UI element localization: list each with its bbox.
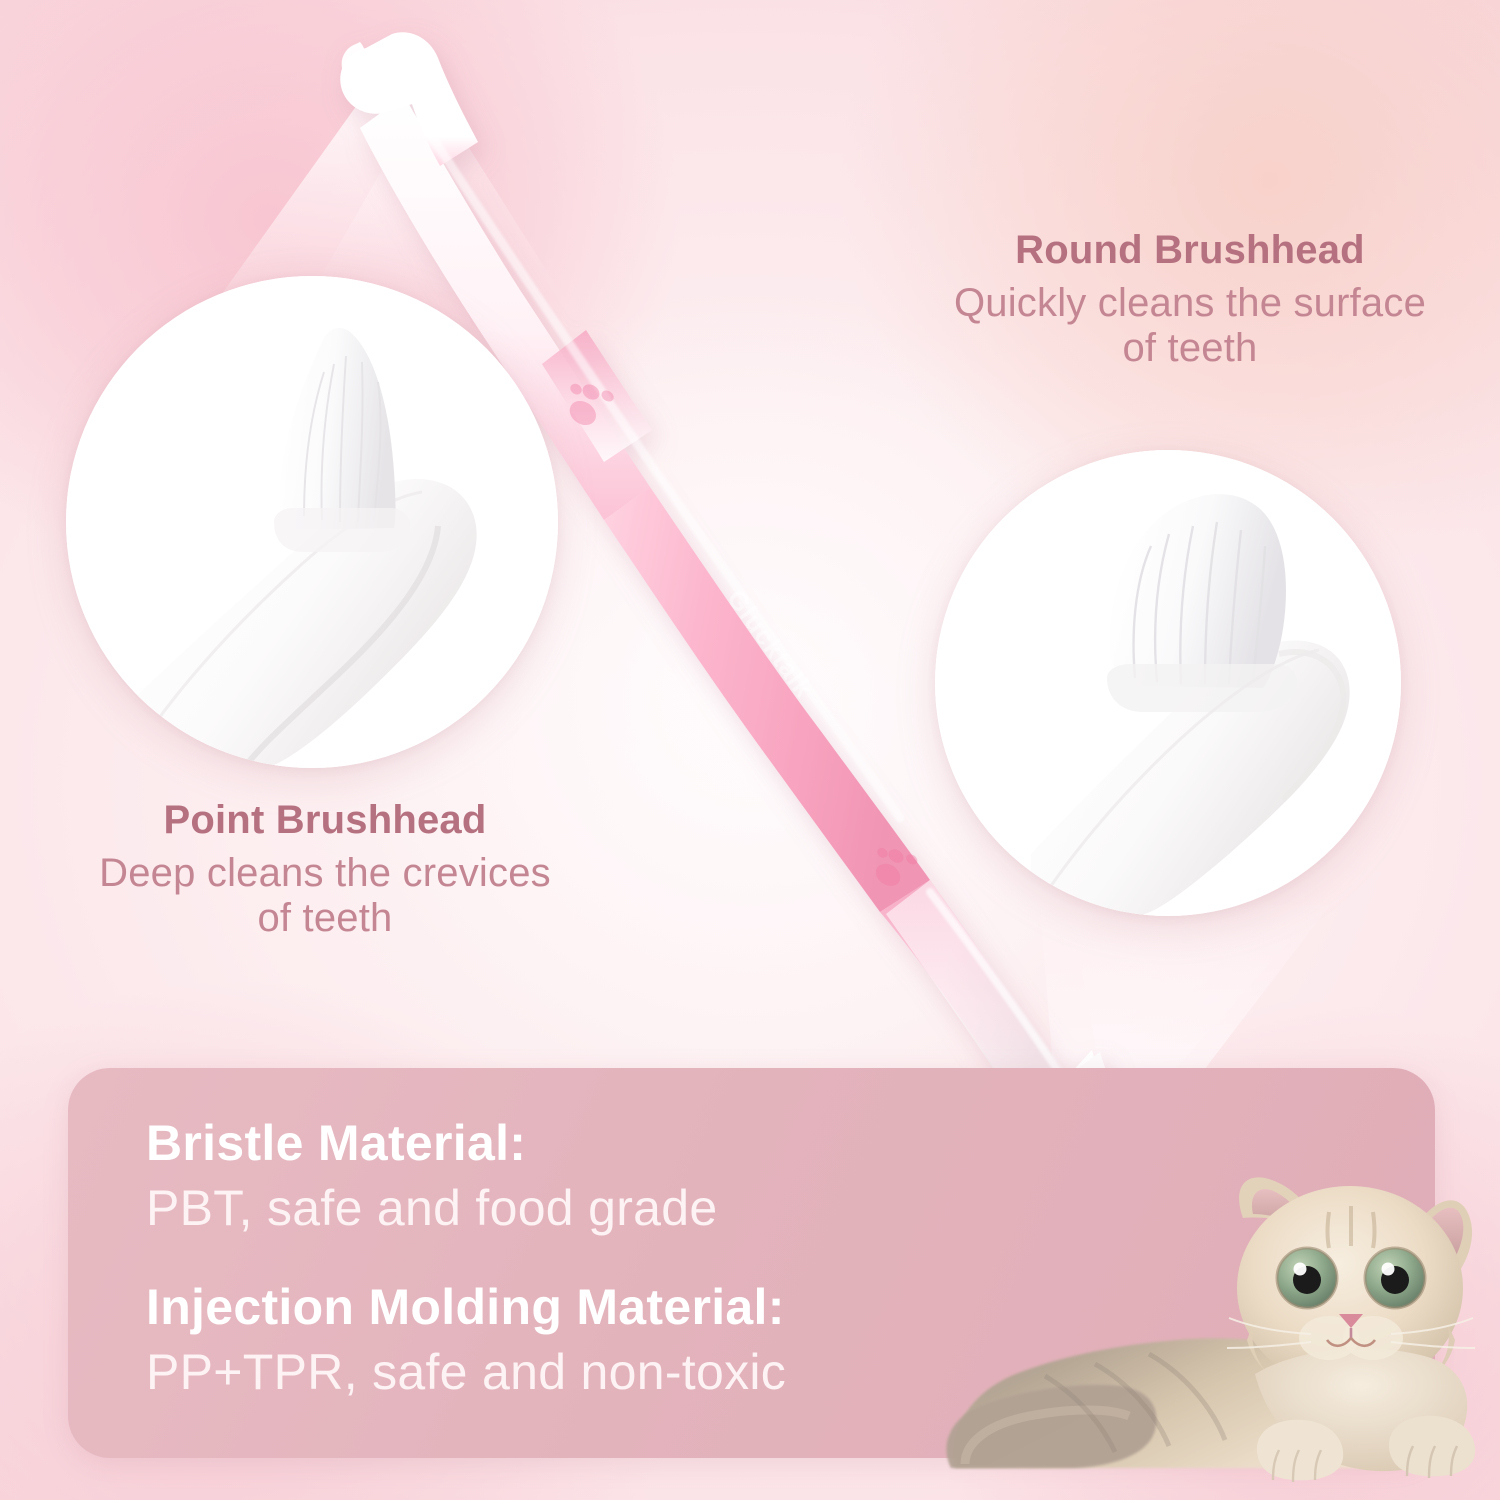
spec-bristle-material-label: Bristle Material: (146, 1116, 717, 1170)
round-brushhead-zoom (935, 450, 1401, 916)
point-brushhead-zoom (66, 276, 558, 768)
product-infographic: Glucktalk (0, 0, 1500, 1500)
callout-point-subtitle-line-2: of teeth (20, 896, 630, 941)
callout-round-brushhead: Round Brushhead Quickly cleans the surfa… (885, 228, 1495, 370)
callout-round-subtitle-line-2: of teeth (885, 326, 1495, 371)
spec-bristle-material: Bristle Material: PBT, safe and food gra… (146, 1116, 717, 1236)
callout-point-title: Point Brushhead (20, 798, 630, 843)
spec-bristle-material-value: PBT, safe and food grade (146, 1180, 717, 1236)
round-brushhead-zoom-art (935, 450, 1401, 916)
spec-injection-molding-material-value: PP+TPR, safe and non-toxic (146, 1344, 786, 1400)
spec-injection-molding-material: Injection Molding Material: PP+TPR, safe… (146, 1280, 786, 1400)
callout-point-brushhead: Point Brushhead Deep cleans the crevices… (20, 798, 630, 940)
callout-round-title: Round Brushhead (885, 228, 1495, 273)
callout-round-subtitle-line-1: Quickly cleans the surface (885, 281, 1495, 326)
cat-image (925, 1168, 1485, 1500)
callout-point-subtitle-line-1: Deep cleans the crevices (20, 851, 630, 896)
point-brushhead-zoom-art (66, 276, 558, 768)
spec-injection-molding-material-label: Injection Molding Material: (146, 1280, 786, 1334)
